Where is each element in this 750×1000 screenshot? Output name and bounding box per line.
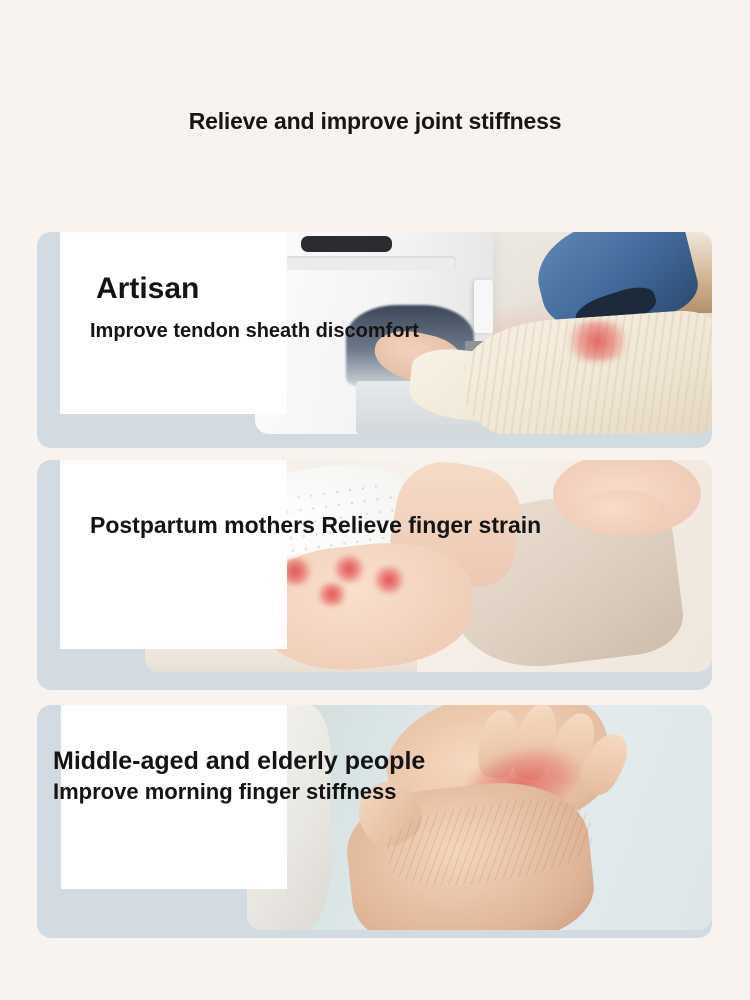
elderly-text-card: Middle-aged and elderly people Improve m…: [61, 705, 287, 889]
page-title: Relieve and improve joint stiffness: [0, 108, 750, 135]
photo-illustration: [247, 705, 712, 930]
elderly-subheading: Improve morning finger stiffness: [53, 779, 313, 804]
baby-arm: [576, 490, 667, 537]
needle-bar: [474, 280, 492, 333]
postpartum-heading: Postpartum mothers Relieve finger strain: [60, 513, 287, 539]
artisan-subheading: Improve tendon sheath discomfort: [60, 320, 287, 343]
machine-panel-slot: [282, 256, 456, 270]
artisan-text-card: Artisan Improve tendon sheath discomfort: [60, 232, 287, 414]
pain-highlight-glow: [332, 555, 366, 583]
benefit-block-artisan: Artisan Improve tendon sheath discomfort: [37, 232, 712, 448]
elderly-clasped-hands-photo: [247, 705, 712, 930]
elderly-heading: Middle-aged and elderly people: [53, 747, 313, 775]
benefit-block-elderly: Middle-aged and elderly people Improve m…: [37, 705, 712, 938]
postpartum-text-card: Postpartum mothers Relieve finger strain: [60, 460, 287, 649]
machine-handle: [301, 236, 392, 252]
benefit-block-postpartum: Postpartum mothers Relieve finger strain: [37, 460, 712, 690]
pain-highlight-glow: [372, 566, 406, 594]
artisan-heading: Artisan: [60, 272, 287, 306]
